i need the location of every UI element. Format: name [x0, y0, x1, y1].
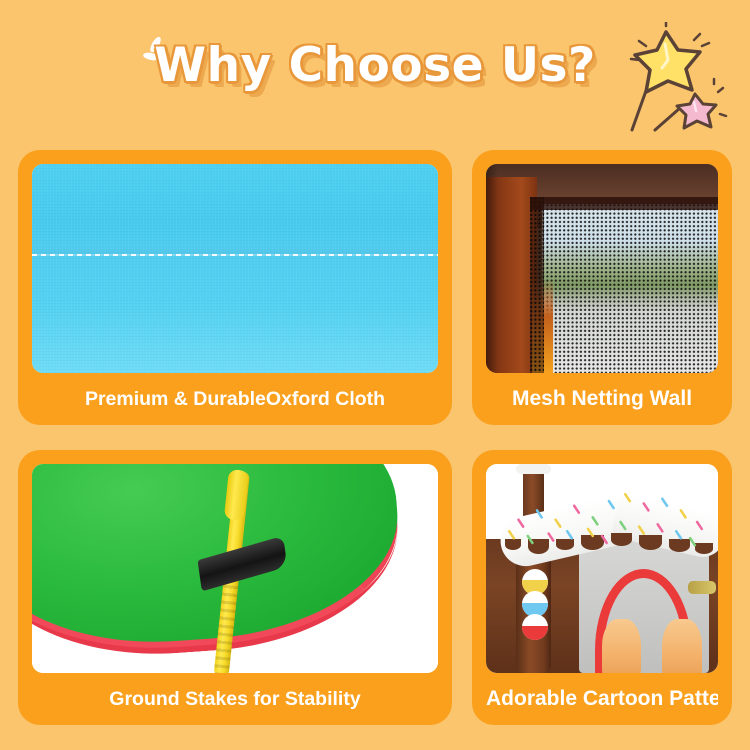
cartoon-pattern-photo [486, 464, 718, 673]
candy-circle-red [522, 614, 548, 640]
feature-label-mesh-netting: Mesh Netting Wall [486, 373, 718, 425]
oxford-cloth-photo [32, 164, 438, 373]
feature-card-oxford-cloth[interactable]: Premium & DurableOxford Cloth [18, 150, 452, 425]
feature-card-mesh-netting[interactable]: Mesh Netting Wall [472, 150, 732, 425]
mesh-netting-photo [486, 164, 718, 373]
feature-label-ground-stakes: Ground Stakes for Stability [32, 673, 438, 725]
ground-stake-photo [32, 464, 438, 673]
feature-card-ground-stakes[interactable]: Ground Stakes for Stability [18, 450, 452, 725]
feature-grid: Premium & DurableOxford Cloth Mesh Netti… [18, 150, 732, 725]
feature-label-cartoon-pattern: Adorable Cartoon Pattern [486, 673, 718, 725]
page-header: Why Choose Us? [0, 0, 750, 150]
magic-wand-icon [610, 22, 740, 152]
feature-card-cartoon-pattern[interactable]: Adorable Cartoon Pattern [472, 450, 732, 725]
feature-label-oxford-cloth: Premium & DurableOxford Cloth [32, 373, 438, 425]
